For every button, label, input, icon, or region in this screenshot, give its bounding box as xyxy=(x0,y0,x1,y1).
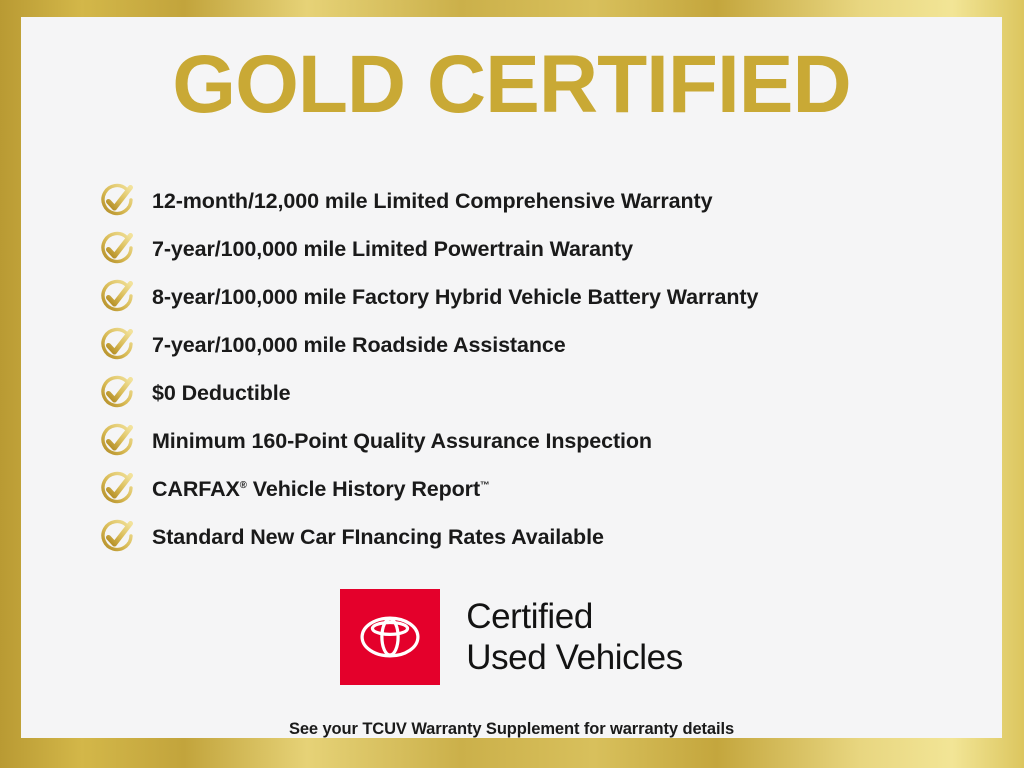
list-item: 7-year/100,000 mile Roadside Assistance xyxy=(96,321,962,369)
toyota-certified-used-vehicles-logo: Certified Used Vehicles xyxy=(21,589,1002,685)
gold-check-circle-icon xyxy=(96,180,138,222)
logo-line-used-vehicles: Used Vehicles xyxy=(466,637,683,678)
warranty-footnote: See your TCUV Warranty Supplement for wa… xyxy=(21,720,1002,739)
toyota-emblem-badge xyxy=(340,589,440,685)
list-item: 12-month/12,000 mile Limited Comprehensi… xyxy=(96,177,962,225)
registered-mark: ® xyxy=(240,479,247,490)
logo-line-certified: Certified xyxy=(466,596,683,637)
benefit-label: Standard New Car FInancing Rates Availab… xyxy=(152,525,604,550)
gold-check-circle-icon xyxy=(96,372,138,414)
gold-check-circle-icon xyxy=(96,468,138,510)
page-title: GOLD CERTIFIED xyxy=(21,44,1002,126)
logo-wordmark: Certified Used Vehicles xyxy=(466,596,683,679)
carfax-report-label: Vehicle History Report xyxy=(247,477,480,501)
list-item: 8-year/100,000 mile Factory Hybrid Vehic… xyxy=(96,273,962,321)
benefit-label: 8-year/100,000 mile Factory Hybrid Vehic… xyxy=(152,285,758,310)
list-item: CARFAX® Vehicle History Report™ xyxy=(96,465,962,513)
benefit-label: 7-year/100,000 mile Limited Powertrain W… xyxy=(152,237,633,262)
gold-check-circle-icon xyxy=(96,324,138,366)
carfax-wordmark: CARFAX xyxy=(152,477,240,501)
gold-check-circle-icon xyxy=(96,228,138,270)
gold-check-circle-icon xyxy=(96,276,138,318)
list-item: Minimum 160-Point Quality Assurance Insp… xyxy=(96,417,962,465)
certificate-card: GOLD CERTIFIED xyxy=(21,17,1002,738)
list-item: Standard New Car FInancing Rates Availab… xyxy=(96,513,962,561)
list-item: $0 Deductible xyxy=(96,369,962,417)
gold-check-circle-icon xyxy=(96,516,138,558)
benefit-label: $0 Deductible xyxy=(152,381,291,406)
trademark-mark: ™ xyxy=(480,479,490,490)
benefits-list: 12-month/12,000 mile Limited Comprehensi… xyxy=(96,177,962,561)
benefit-label: 12-month/12,000 mile Limited Comprehensi… xyxy=(152,189,712,214)
benefit-label: 7-year/100,000 mile Roadside Assistance xyxy=(152,333,566,358)
benefit-label: Minimum 160-Point Quality Assurance Insp… xyxy=(152,429,652,454)
benefit-label: CARFAX® Vehicle History Report™ xyxy=(152,477,490,502)
gold-check-circle-icon xyxy=(96,420,138,462)
list-item: 7-year/100,000 mile Limited Powertrain W… xyxy=(96,225,962,273)
gold-border-frame: GOLD CERTIFIED xyxy=(0,0,1024,768)
